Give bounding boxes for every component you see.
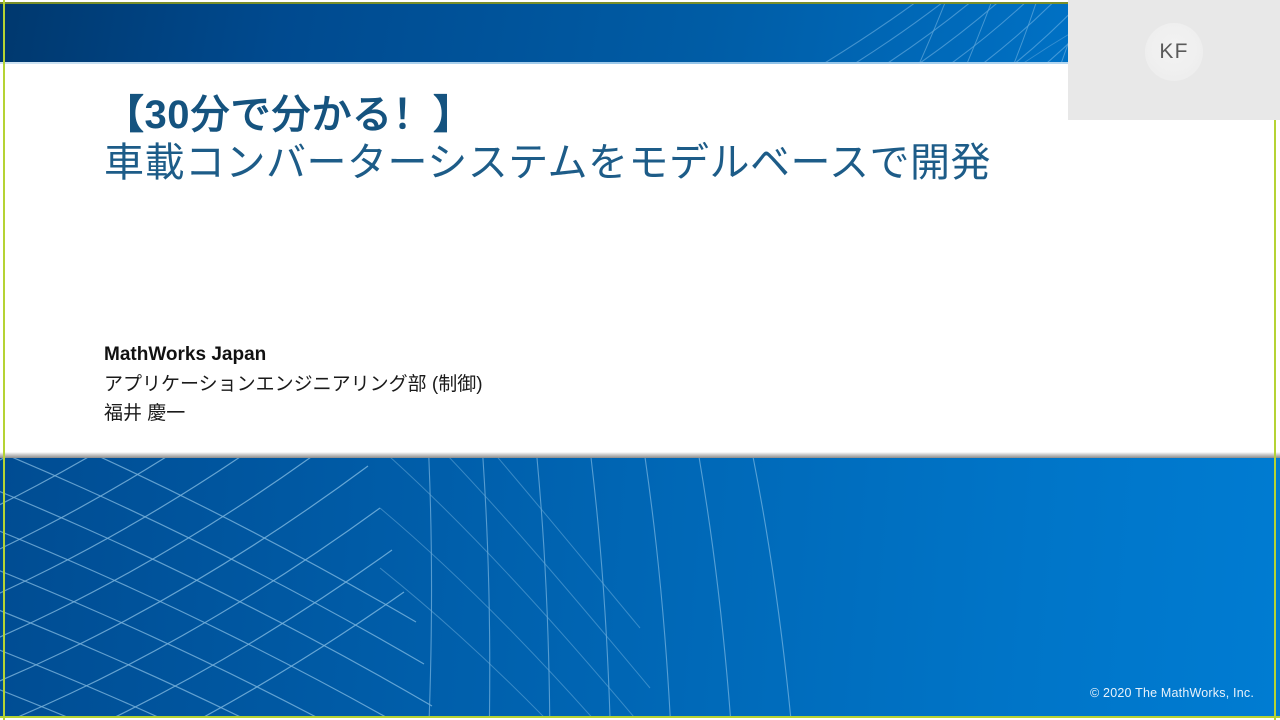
page-title: 【30分で分かる！】 車載コンバーターシステムをモデルベースで開発 xyxy=(104,92,1154,188)
footer-divider xyxy=(0,452,1280,458)
avatar[interactable]: KF xyxy=(1145,23,1203,81)
presenter-organization: MathWorks Japan xyxy=(104,341,483,370)
presenter-name: 福井 慶一 xyxy=(104,399,483,428)
title-line-primary: 【30分で分かる！】 xyxy=(104,92,1154,139)
presenter-info: MathWorks Japan アプリケーションエンジニアリング部 (制御) 福… xyxy=(104,341,483,429)
title-line-secondary: 車載コンバーターシステムをモデルベースで開発 xyxy=(104,139,1154,188)
video-participant-tile[interactable]: KF xyxy=(1068,0,1280,120)
slide-frame-left xyxy=(3,0,5,720)
avatar-initials-icon: KF xyxy=(1159,40,1188,64)
copyright-notice: © 2020 The MathWorks, Inc. xyxy=(1090,686,1254,700)
slide-frame-bottom xyxy=(0,716,1280,718)
membrane-wireframe-pattern-icon xyxy=(0,458,1000,716)
slide-bottom-banner: © 2020 The MathWorks, Inc. xyxy=(0,458,1280,716)
presenter-department: アプリケーションエンジニアリング部 (制御) xyxy=(104,370,483,399)
